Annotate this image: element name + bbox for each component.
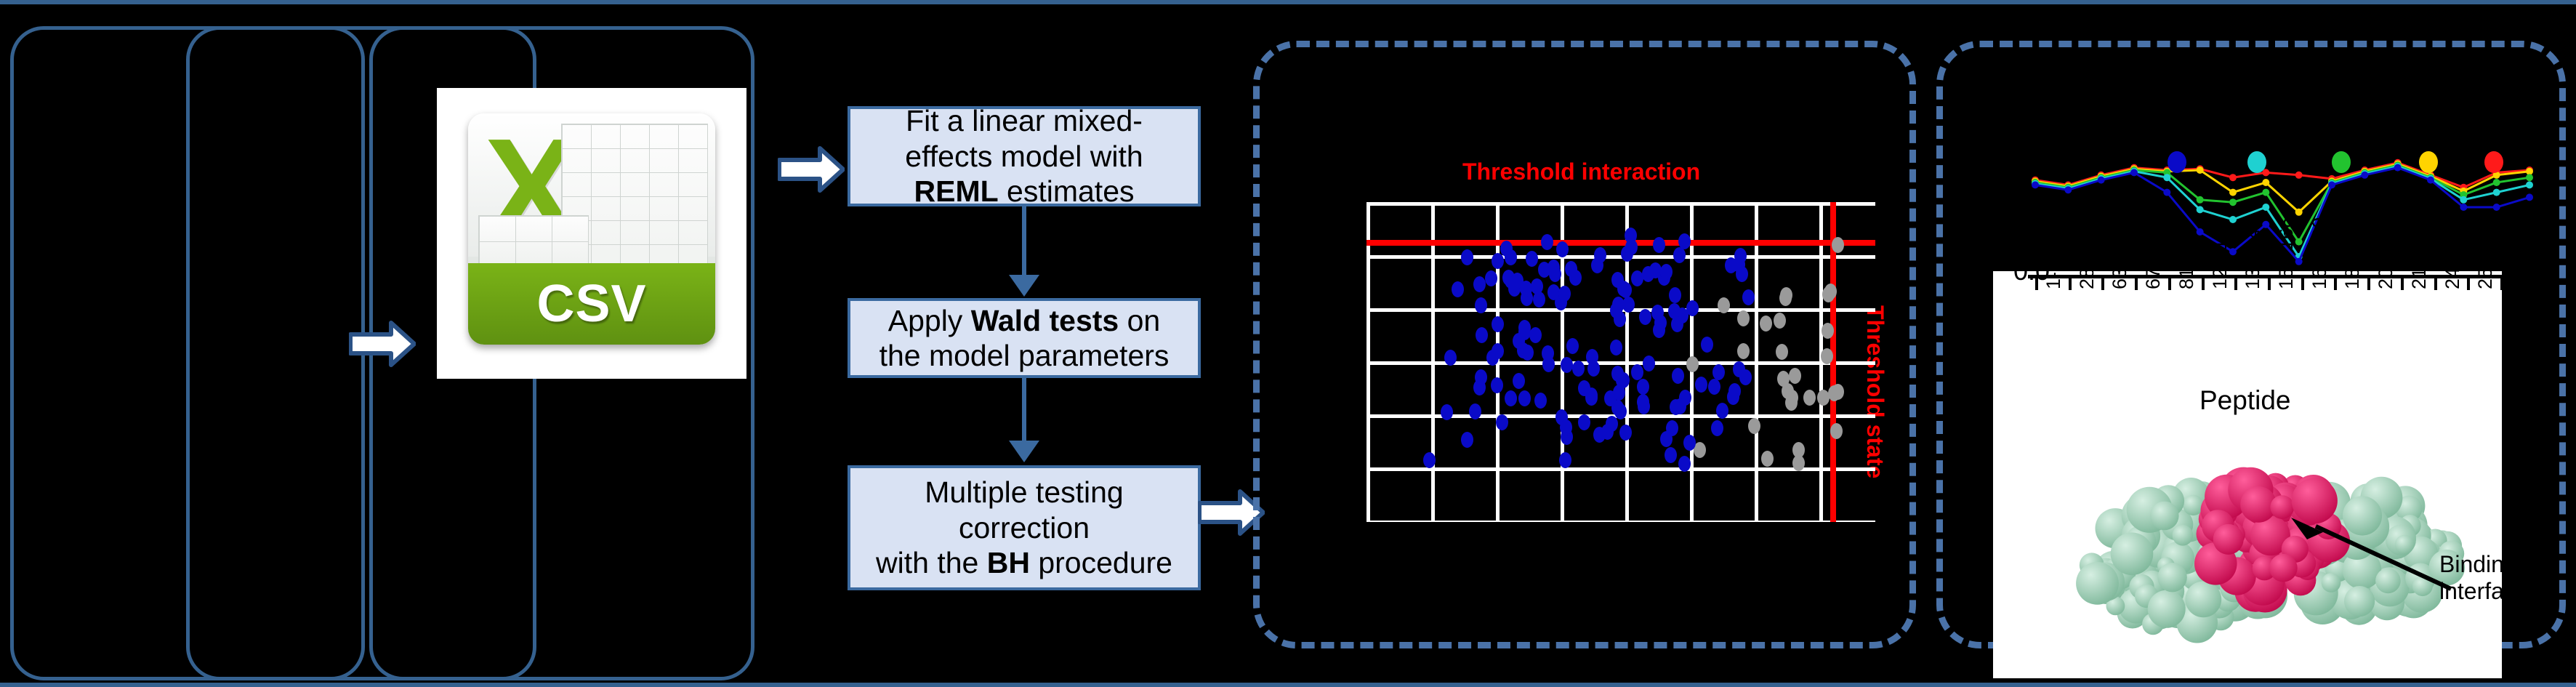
chart-point (2460, 204, 2467, 211)
scatter-point (1822, 323, 1834, 339)
chart-point (2394, 164, 2402, 172)
chart-point (2526, 168, 2533, 175)
x-tick (2234, 278, 2237, 290)
scatter-point (1672, 368, 1684, 384)
scatter-point (1533, 292, 1545, 308)
scatter-point (1824, 284, 1837, 300)
scatter-point (1642, 266, 1654, 282)
scatter-point (1631, 270, 1643, 286)
step-wald-tail: the model parameters (880, 339, 1170, 372)
scatter-point (1475, 297, 1487, 313)
x-tick-label: 67-75 (2142, 239, 2165, 289)
x-tick-label: 218-237 (2408, 217, 2431, 289)
scatter-point (1614, 403, 1627, 419)
step-wald-mid: on (1119, 304, 1160, 337)
scatter-point (1486, 350, 1499, 366)
scatter-point (1674, 398, 1686, 414)
chart-series-state-4 (2035, 164, 2529, 212)
step-reml-line1: Fit a linear mixed- (906, 104, 1143, 137)
scatter-point (1606, 416, 1618, 432)
legend-dot-state-3 (2332, 151, 2351, 173)
connector-arrowhead-2 (1009, 441, 1039, 462)
x-tick (2135, 278, 2138, 290)
scatter-point (1760, 316, 1772, 332)
receptor-surface-blob (2076, 562, 2119, 605)
step-reml-line2: effects model with (905, 140, 1143, 173)
scatter-point (1742, 289, 1755, 305)
scatter-point (1711, 420, 1723, 436)
receptor-surface-blob (2150, 502, 2179, 531)
chart-point (2493, 189, 2500, 196)
scatter-point (1529, 327, 1542, 343)
chart-point (2262, 179, 2269, 186)
scatter-point (1617, 281, 1630, 297)
scatter-point (1473, 379, 1486, 395)
x-tick-label: 258-266 (2474, 217, 2497, 289)
x-tick-label: 184-199 (2341, 217, 2364, 289)
scatter-point (1739, 369, 1752, 385)
legend-dot-state-1 (2168, 151, 2186, 173)
binding-label-line2: interface (2439, 578, 2529, 605)
figure-canvas: X CSV Fit a linear mixed- effects model … (0, 0, 2576, 687)
step-reml-bold: REML (914, 174, 999, 208)
x-tick (2367, 278, 2370, 290)
legend-dot-state-4 (2419, 151, 2438, 173)
chart-point (2526, 181, 2533, 188)
scatter-point (1476, 327, 1488, 343)
scatter-point (1444, 350, 1457, 366)
x-tick (2202, 278, 2205, 290)
x-tick-label: 277-284 (2508, 217, 2530, 289)
step-reml-box: Fit a linear mixed- effects model with R… (848, 106, 1201, 206)
x-tick-label: 158-166 (2275, 217, 2298, 289)
binding-label-line1: Binding (2439, 551, 2529, 578)
chart-point (2262, 204, 2269, 211)
chart-point (2295, 172, 2303, 179)
x-tick-label: 135-144 (2242, 217, 2264, 289)
scatter-point (1542, 345, 1554, 361)
x-tick (2101, 278, 2104, 290)
chart-point (2098, 177, 2105, 184)
receptor-surface-blob (2185, 582, 2221, 618)
x-tick (2434, 278, 2437, 290)
scatter-point (1496, 414, 1508, 430)
model-panel (369, 26, 754, 680)
scatter-point (1625, 228, 1637, 244)
chart-x-axis-label: Peptide (2199, 385, 2291, 416)
scatter-point (1505, 390, 1517, 406)
step-wald-box: Apply Wald tests on the model parameters (848, 298, 1201, 378)
scatter-point (1673, 247, 1686, 263)
step-bh-line3-tail: procedure (1030, 546, 1172, 579)
x-tick (2301, 278, 2304, 290)
scatter-point (1549, 266, 1561, 282)
scatter-point (1737, 343, 1750, 359)
x-tick-label: 241-257 (2442, 217, 2464, 289)
step-reml-tail: estimates (999, 174, 1135, 208)
scatter-point (1585, 387, 1598, 403)
connector-reml-to-wald (1022, 206, 1026, 279)
chart-point (2460, 196, 2467, 204)
scatter-point (1610, 340, 1622, 355)
x-tick-label: 167-180 (2309, 217, 2331, 289)
scatter-point (1666, 420, 1678, 436)
step-wald-bold: Wald tests (971, 304, 1119, 337)
connector-wald-to-bh (1022, 378, 1026, 445)
x-tick (2168, 278, 2171, 290)
scatter-point (1821, 348, 1833, 364)
threshold-interaction-line (1367, 240, 1875, 246)
chart-point (2130, 169, 2138, 176)
arrow-input-to-csv (349, 320, 416, 368)
scatter-point (1782, 383, 1794, 399)
connector-arrowhead-1 (1009, 275, 1039, 297)
chart-point (2197, 206, 2204, 213)
chart-point (2229, 174, 2237, 181)
scatter-point (1612, 297, 1625, 313)
scatter-point (1671, 316, 1683, 332)
step-bh-line1: Multiple testing (925, 475, 1123, 509)
scatter-point (1830, 423, 1843, 439)
x-tick (2268, 278, 2271, 290)
scatter-point (1817, 390, 1830, 406)
arrow-csv-to-model (778, 145, 845, 193)
chart-point (2526, 193, 2533, 201)
chart-point (2064, 186, 2072, 193)
chart-point (2197, 196, 2204, 204)
scatter-point (1423, 452, 1436, 468)
scatter-point (1832, 237, 1844, 253)
scatter-plot (1367, 202, 1875, 522)
x-tick-label: 28-44 (2076, 239, 2098, 289)
ligand-surface-blob (2213, 524, 2244, 555)
scatter-point (1593, 427, 1606, 443)
chart-point (2427, 177, 2434, 184)
x-tick (2334, 278, 2337, 290)
chart-point (2032, 181, 2039, 188)
x-tick (2401, 278, 2404, 290)
chart-point (2229, 198, 2237, 206)
chart-point (2493, 204, 2500, 211)
x-tick (2467, 278, 2470, 290)
x-tick-label: 81-101 (2175, 228, 2198, 289)
scatter-point (1461, 432, 1473, 448)
chart-point (2361, 172, 2368, 179)
receptor-surface-blob (2157, 563, 2186, 592)
chart-point (2163, 189, 2170, 196)
legend-dot-state-2 (2247, 151, 2266, 173)
x-tick (2069, 278, 2072, 290)
scatter-point (1774, 313, 1786, 329)
x-tick-label: 63-73 (2109, 239, 2131, 289)
legend-dot-state-5 (2484, 151, 2503, 173)
scatter-point (1708, 379, 1720, 395)
scatter-point (1665, 447, 1677, 463)
scatter-point (1761, 451, 1774, 467)
scatter-point (1572, 361, 1585, 377)
step-bh-line3-lead: with the (876, 546, 987, 579)
scatter-point (1508, 276, 1521, 292)
top-rule (0, 0, 2576, 4)
scatter-point (1526, 251, 1538, 267)
chart-point (2163, 174, 2170, 181)
chart-point (2295, 209, 2303, 216)
scatter-point (1669, 287, 1681, 303)
x-tick (2500, 278, 2503, 290)
receptor-surface-blob (2111, 533, 2154, 576)
chart-point (2197, 166, 2204, 174)
scatter-point (1534, 393, 1547, 409)
receptor-surface-blob (2173, 525, 2194, 546)
scatter-point (1619, 425, 1632, 441)
scatter-point (1556, 241, 1569, 257)
step-bh-line2: correction (959, 511, 1090, 545)
chart-point (2328, 181, 2335, 188)
step-bh-bold: BH (987, 546, 1030, 579)
binding-interface-label: Binding interface (2439, 551, 2529, 605)
chart-point (2262, 189, 2269, 196)
threshold-interaction-label: Threshold interaction (1462, 158, 1700, 185)
scatter-point (1678, 233, 1691, 249)
scatter-point (1792, 455, 1805, 471)
scatter-point (1566, 338, 1579, 354)
scatter-point (1561, 357, 1573, 373)
scatter-point (1461, 249, 1473, 265)
step-bh-box: Multiple testing correction with the BH … (848, 465, 1201, 590)
chart-point (2526, 174, 2533, 181)
scatter-point (1701, 337, 1713, 353)
scatter-point (1728, 383, 1741, 399)
bottom-rule (0, 683, 2576, 687)
chart-y-tick-zero: 0.0 (2013, 256, 2050, 286)
scatter-point (1541, 234, 1553, 250)
scatter-point (1452, 281, 1464, 297)
scatter-point (1718, 297, 1730, 313)
chart-point (2229, 189, 2237, 196)
x-tick-label: 200-214 (2375, 217, 2397, 289)
chart-point (2493, 179, 2500, 186)
scatter-point (1631, 364, 1643, 380)
x-tick-label: 122-129 (2209, 217, 2231, 289)
step-wald-lead: Apply (888, 304, 971, 337)
binding-interface-arrow (2290, 516, 2457, 596)
scatter-point (1654, 315, 1667, 331)
scatter-point (1441, 404, 1453, 420)
receptor-surface-blob (2148, 590, 2186, 628)
